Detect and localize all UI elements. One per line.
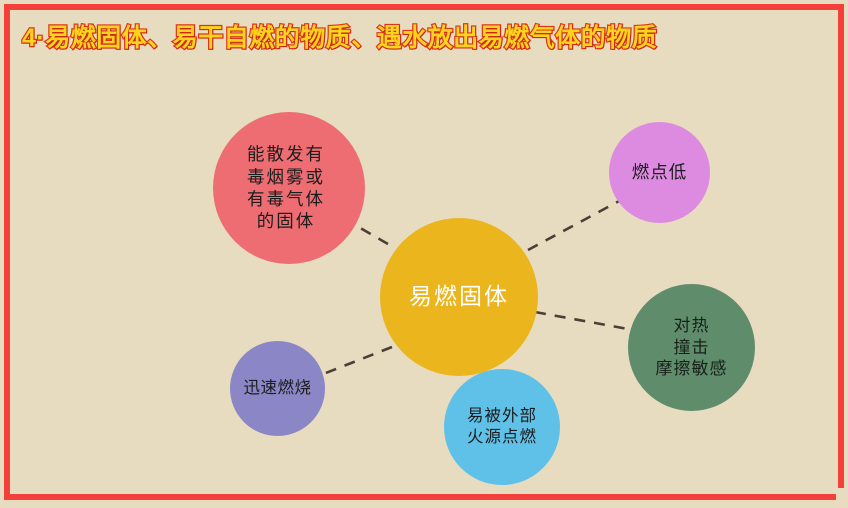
node-heat-impact-friction-sensitive-label: 对热 撞击 摩擦敏感 <box>656 315 728 380</box>
node-rapid-combustion-label: 迅速燃烧 <box>244 378 312 399</box>
node-low-ignition-point-label: 燃点低 <box>632 161 688 183</box>
node-ignited-by-external-source-label: 易被外部 火源点燃 <box>467 406 537 448</box>
node-heat-impact-friction-sensitive[interactable]: 对热 撞击 摩擦敏感 <box>628 284 755 411</box>
slide-canvas: 4·易燃固体、易干自燃的物质、遇水放出易燃气体的物质 易燃固体 能散发有 毒烟雾… <box>0 0 848 508</box>
node-ignited-by-external-source[interactable]: 易被外部 火源点燃 <box>444 369 560 485</box>
node-center-flammable-solid[interactable]: 易燃固体 <box>380 218 538 376</box>
node-toxic-solid[interactable]: 能散发有 毒烟雾或 有毒气体 的固体 <box>213 112 365 264</box>
connector-center-to-rapid <box>313 347 392 378</box>
node-low-ignition-point[interactable]: 燃点低 <box>609 122 710 223</box>
connector-center-to-ignition <box>528 200 621 250</box>
node-center-label: 易燃固体 <box>409 282 509 311</box>
node-toxic-solid-label: 能散发有 毒烟雾或 有毒气体 的固体 <box>247 143 325 233</box>
node-rapid-combustion[interactable]: 迅速燃烧 <box>230 341 325 436</box>
